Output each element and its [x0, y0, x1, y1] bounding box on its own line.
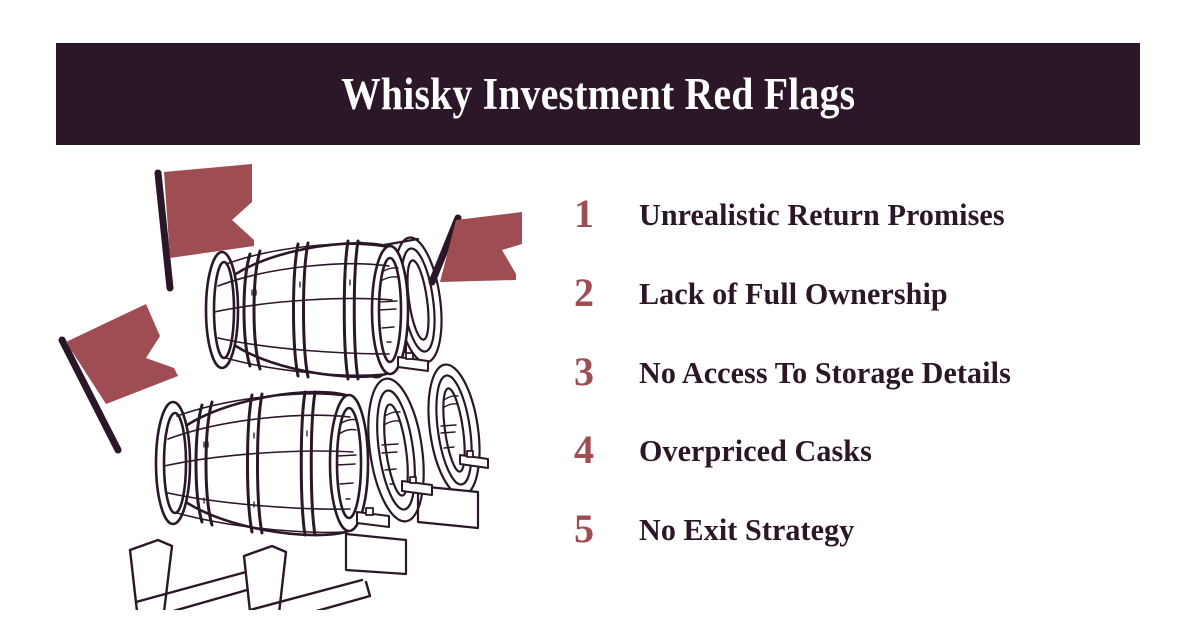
- list-item-number: 1: [560, 194, 639, 234]
- list-item-label: Unrealistic Return Promises: [639, 199, 1005, 230]
- cask-stand-back: [346, 534, 406, 574]
- cask-bottom-front: [156, 392, 389, 535]
- list-item-label: Overpriced Casks: [639, 435, 872, 466]
- cask-illustration-svg: [46, 150, 546, 610]
- list-item-label: Lack of Full Ownership: [639, 278, 948, 309]
- red-flag-right: [432, 212, 522, 282]
- list-item-number: 5: [560, 509, 639, 549]
- cask-lower-back: [418, 361, 488, 528]
- list-item-label: No Exit Strategy: [639, 514, 854, 545]
- list-item: 4 Overpriced Casks: [560, 422, 879, 478]
- title-banner: Whisky Investment Red Flags: [56, 43, 1140, 145]
- red-flag-top: [158, 164, 254, 288]
- infographic-canvas: Whisky Investment Red Flags: [0, 0, 1200, 627]
- cask-illustration: [46, 150, 546, 610]
- list-item: 3 No Access To Storage Details: [560, 344, 1022, 400]
- list-item-number: 3: [560, 352, 639, 392]
- red-flag-list: 1 Unrealistic Return Promises 2 Lack of …: [560, 186, 1160, 586]
- page-title: Whisky Investment Red Flags: [341, 72, 855, 117]
- list-item-number: 4: [560, 430, 639, 470]
- cask-top-front: [206, 241, 428, 379]
- list-item-label: No Access To Storage Details: [639, 357, 1011, 388]
- list-item: 5 No Exit Strategy: [560, 501, 861, 557]
- cask-lower-mid: [360, 375, 432, 525]
- list-item-number: 2: [560, 273, 639, 313]
- cask-stand-left: [130, 540, 254, 610]
- list-item: 2 Lack of Full Ownership: [560, 265, 957, 321]
- list-item: 1 Unrealistic Return Promises: [560, 186, 1016, 242]
